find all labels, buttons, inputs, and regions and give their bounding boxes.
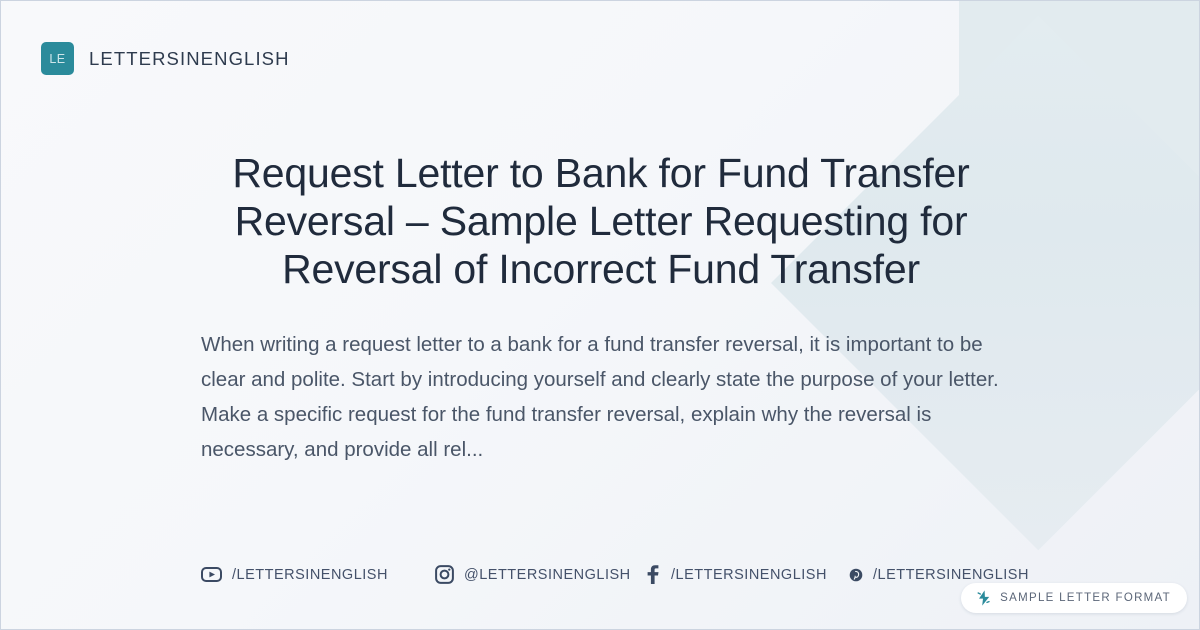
social-link-facebook[interactable]: /LETTERSINENGLISH [646, 564, 849, 585]
facebook-icon [646, 564, 661, 585]
brand-logo[interactable]: LE LETTERSINENGLISH [41, 42, 290, 75]
social-link-youtube[interactable]: /LETTERSINENGLISH [201, 567, 435, 583]
brand-name: LETTERSINENGLISH [89, 48, 290, 70]
page-title: Request Letter to Bank for Fund Transfer… [201, 149, 1001, 293]
brand-badge-icon: LE [41, 42, 74, 75]
social-links-row: /LETTERSINENGLISH @LETTERSINENGLISH /LET… [201, 564, 1029, 585]
social-handle: /LETTERSINENGLISH [873, 567, 1029, 583]
page-excerpt: When writing a request letter to a bank … [201, 327, 1001, 467]
social-handle: @LETTERSINENGLISH [464, 567, 631, 583]
social-handle: /LETTERSINENGLISH [232, 567, 388, 583]
social-handle: /LETTERSINENGLISH [671, 567, 827, 583]
social-link-instagram[interactable]: @LETTERSINENGLISH [435, 565, 646, 584]
instagram-icon [435, 565, 454, 584]
main-content: Request Letter to Bank for Fund Transfer… [1, 149, 1200, 467]
pinterest-icon [849, 568, 863, 582]
social-preview-card: LE LETTERSINENGLISH Request Letter to Ba… [0, 0, 1200, 630]
sample-letter-format-label: SAMPLE LETTER FORMAT [1000, 592, 1171, 604]
social-link-pinterest[interactable]: /LETTERSINENGLISH [849, 567, 1029, 583]
sample-letter-format-badge[interactable]: SAMPLE LETTER FORMAT [961, 583, 1187, 613]
youtube-icon [201, 567, 222, 582]
bolt-icon [977, 590, 991, 606]
